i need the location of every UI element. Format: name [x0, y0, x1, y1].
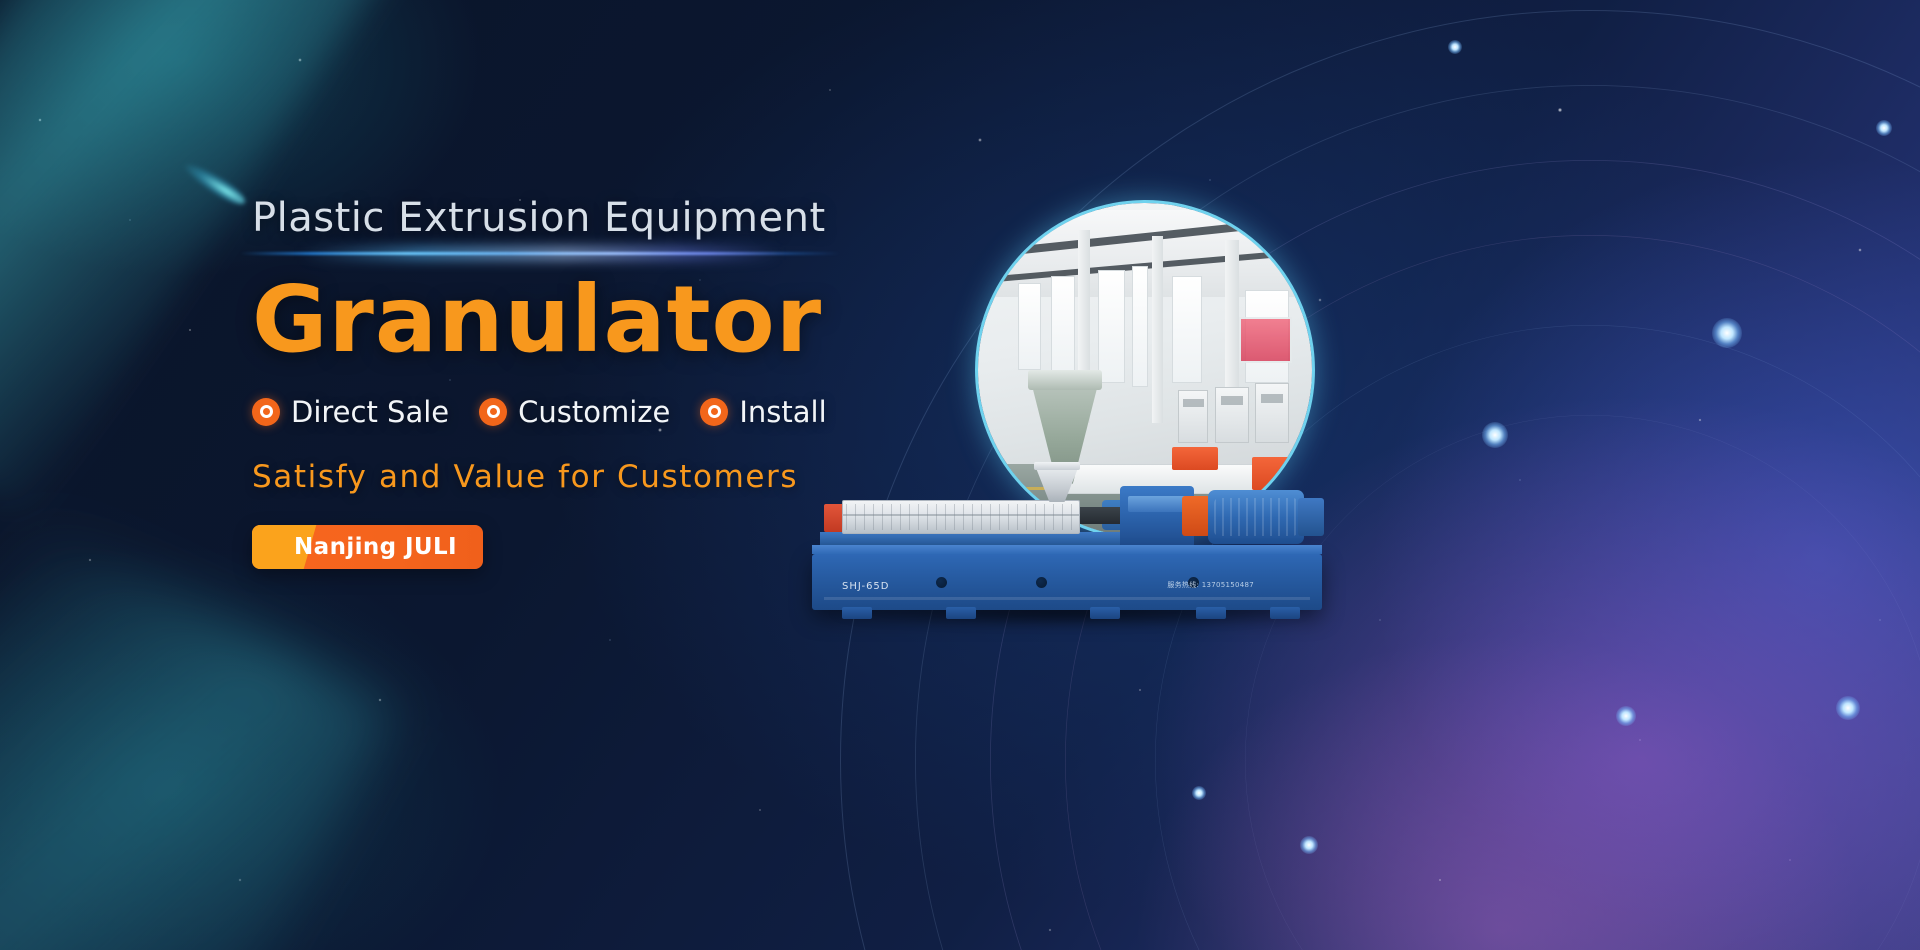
banner-eyebrow: Plastic Extrusion Equipment: [252, 196, 1072, 240]
machine-orange-block: [1182, 496, 1210, 536]
glow-star: [1876, 120, 1892, 136]
brand-cta-button[interactable]: Nanjing JULI: [252, 525, 483, 569]
photo-window: [1132, 266, 1149, 386]
feature-label: Direct Sale: [291, 395, 449, 429]
glow-star: [1192, 786, 1206, 800]
machine-service-label: 服务热线: 13705150487: [1167, 580, 1254, 590]
brand-cta-label: Nanjing JULI: [294, 534, 457, 560]
feature-item-direct-sale[interactable]: Direct Sale: [252, 395, 449, 429]
feature-label: Install: [739, 395, 826, 429]
target-dot-icon: [700, 398, 728, 426]
banner-title: Granulator: [252, 272, 1072, 369]
machine-foot: [1090, 607, 1120, 619]
glow-star: [1712, 318, 1742, 348]
machine-motor: [1208, 490, 1304, 544]
machine-foot: [946, 607, 976, 619]
photo-window: [1172, 276, 1202, 383]
banner-content: Plastic Extrusion Equipment Granulator D…: [252, 196, 1072, 569]
machine-fan-cover: [1298, 498, 1324, 536]
glow-divider: [240, 246, 840, 262]
glow-star: [1836, 696, 1860, 720]
feature-item-install[interactable]: Install: [700, 395, 826, 429]
machine-base-hole: [936, 577, 947, 588]
machine-base-hole: [1036, 577, 1047, 588]
photo-column: [1152, 236, 1164, 423]
machine-foot: [842, 607, 872, 619]
machine-foot: [1196, 607, 1226, 619]
teal-light-streak-bottom-left: [0, 512, 397, 950]
feature-label: Customize: [518, 395, 670, 429]
feature-item-customize[interactable]: Customize: [479, 395, 670, 429]
glow-star: [1482, 422, 1508, 448]
glow-star: [1616, 706, 1636, 726]
photo-window: [1098, 270, 1125, 384]
feature-list: Direct Sale Customize Install: [252, 395, 1072, 429]
glow-star: [1448, 40, 1462, 54]
target-dot-icon: [479, 398, 507, 426]
machine-model-label: SHJ-65D: [842, 581, 890, 592]
photo-red-sign: [1239, 317, 1292, 364]
comet-glow-icon: [181, 158, 250, 210]
glow-star: [1300, 836, 1318, 854]
machine-base-rail: [824, 597, 1310, 600]
banner-tagline: Satisfy and Value for Customers: [252, 459, 1072, 495]
machine-foot: [1270, 607, 1300, 619]
promo-banner: SHJ-65D 服务热线: 13705150487 Plastic Extrus…: [0, 0, 1920, 950]
target-dot-icon: [252, 398, 280, 426]
